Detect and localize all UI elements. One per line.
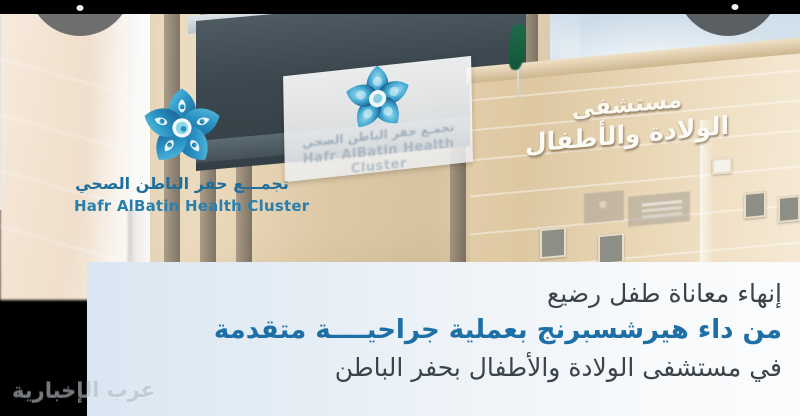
facade-cluster-sign: تجمـع حفر الباطن الصحي Hafr AlBatin Heal… [283,56,473,182]
window [598,233,624,265]
watermark-text: عرب الإخبارية [12,378,155,402]
building-plaque-text [628,191,690,227]
logo-arabic-text: تجمـــع حفر الباطن الصحي [74,174,290,193]
caption-line-2: من داء هيرشسبرنج بعملية جراحيــــة متقدم… [87,312,782,350]
window [744,191,766,219]
health-cluster-logo-block: تجمـــع حفر الباطن الصحي Hafr AlBatin He… [74,78,290,228]
window [540,227,566,259]
logo-english-text: Hafr AlBatin Health Cluster [74,197,290,215]
window [712,157,732,175]
orb-notch-left-icon [77,5,84,11]
caption-line-3: في مستشفى الولادة والأطفال بحفر الباطن [87,350,782,386]
caption-line-1: إنهاء معاناة طفل رضيع [87,276,782,312]
orb-notch-right-icon [732,4,739,10]
health-cluster-star-logo-icon [134,78,230,174]
screenshot-root: مستشفى الولادة والأطفال ✵ [0,0,800,416]
caption-panel: إنهاء معاناة طفل رضيع من داء هيرشسبرنج ب… [87,262,800,416]
top-black-bar [0,0,800,14]
window [778,195,800,223]
building-plaque-emblem: ✵ [584,190,624,224]
